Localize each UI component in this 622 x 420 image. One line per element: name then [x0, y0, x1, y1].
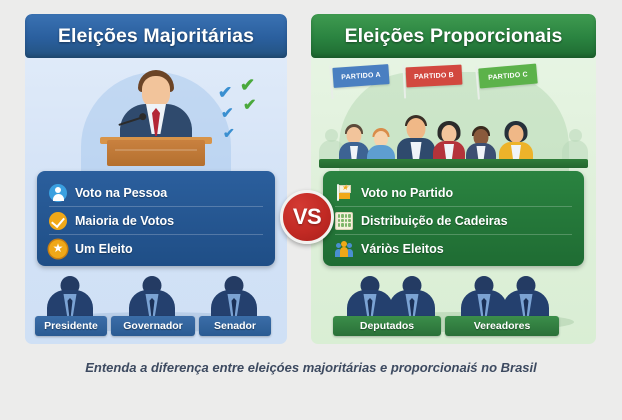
official-silhouette: [129, 276, 175, 318]
candidate-figure: [96, 68, 216, 168]
office-label: Deputados: [360, 320, 414, 332]
illustration-podium: ✔ ✔ ✔ ✔ ✔: [25, 58, 287, 168]
panel-table: [319, 159, 588, 168]
panel-majoritarian: Eleições Majoritárias ✔ ✔ ✔ ✔ ✔: [25, 14, 287, 344]
feature-label: Distribuiçẽo de Cadeiras: [361, 214, 508, 228]
feature-row[interactable]: Um Eleito: [49, 234, 263, 262]
official-silhouette: [389, 276, 435, 318]
check-circle-icon: [49, 212, 67, 230]
podium: [107, 140, 205, 166]
crowd-ghost: [569, 129, 582, 142]
flag-partido-a[interactable]: PARTIDO A: [332, 64, 389, 88]
flag-icon: [335, 184, 353, 202]
office-plate-governador[interactable]: Governador: [111, 316, 195, 336]
versus-label: VS: [293, 204, 321, 230]
flag-label: PARTIDO C: [488, 71, 528, 81]
feature-label: Maioria de Votos: [75, 214, 174, 228]
feature-label: Voto na Pessoa: [75, 186, 167, 200]
caption: Entenda a diferença entre eleiçóes major…: [0, 360, 622, 375]
checkmark-icon: ✔: [223, 126, 235, 140]
feature-label: Váriòs Eleitos: [361, 242, 444, 256]
illustration-crowd: PARTIDO A PARTIDO B PARTIDO C: [311, 58, 596, 168]
versus-badge: VS: [280, 190, 334, 244]
checkmark-icon: ✔: [218, 84, 232, 101]
checkmark-icon: ✔: [221, 106, 234, 121]
header-majoritarian: Eleições Majoritárias: [25, 14, 287, 58]
official-silhouette: [503, 276, 549, 318]
feature-row[interactable]: Maioria de Votos: [49, 206, 263, 234]
office-plate-vereadores[interactable]: Vereadores: [445, 316, 559, 336]
features-proportional: Voto no Partido Distribuiçẽo de Cadeiras…: [323, 171, 584, 266]
office-label: Presidente: [44, 320, 98, 332]
flag-partido-b[interactable]: PARTIDO B: [406, 65, 463, 88]
seats-grid-icon: [335, 212, 353, 230]
person-icon: [49, 184, 67, 202]
header-proportional: Eleições Proporcionais: [311, 14, 596, 58]
office-plate-deputados[interactable]: Deputados: [333, 316, 441, 336]
panel-proportional: Eleições Proporcionais PARTIDO A PARTIDO…: [311, 14, 596, 344]
official-silhouette: [211, 276, 257, 318]
flag-pole: [402, 65, 406, 99]
flag-label: PARTIDO A: [341, 71, 381, 81]
offices-proportional: Deputados Vereadores: [311, 270, 596, 344]
features-majoritarian: Voto na Pessoa Maioria de Votos Um Eleit…: [37, 171, 275, 266]
offices-majoritarian: Presidente Governador Senador: [25, 270, 287, 344]
feature-label: Voto no Partido: [361, 186, 453, 200]
flag-pole: [329, 65, 333, 99]
crowd-ghost: [325, 129, 338, 142]
group-people-icon: [335, 240, 353, 258]
feature-row[interactable]: Voto no Partido: [335, 179, 572, 206]
office-plate-senador[interactable]: Senador: [199, 316, 271, 336]
checkmark-icon: ✔: [240, 76, 255, 94]
office-label: Governador: [123, 320, 183, 332]
office-plate-presidente[interactable]: Presidente: [35, 316, 107, 336]
feature-row[interactable]: Distribuiçẽo de Cadeiras: [335, 206, 572, 234]
feature-label: Um Eleito: [75, 242, 133, 256]
infographic-stage: Eleições Majoritárias ✔ ✔ ✔ ✔ ✔: [0, 0, 622, 420]
official-silhouette: [47, 276, 93, 318]
rosette-star-icon: [49, 240, 67, 258]
title-majoritarian: Eleições Majoritárias: [58, 25, 254, 48]
flag-label: PARTIDO B: [414, 71, 454, 80]
office-label: Vereadores: [474, 320, 531, 332]
title-proportional: Eleições Proporcionais: [345, 25, 563, 48]
official-silhouette: [347, 276, 393, 318]
official-silhouette: [461, 276, 507, 318]
office-label: Senador: [214, 320, 256, 332]
feature-row[interactable]: Váriòs Eleitos: [335, 234, 572, 262]
feature-row[interactable]: Voto na Pessoa: [49, 179, 263, 206]
checkmark-icon: ✔: [243, 98, 256, 114]
